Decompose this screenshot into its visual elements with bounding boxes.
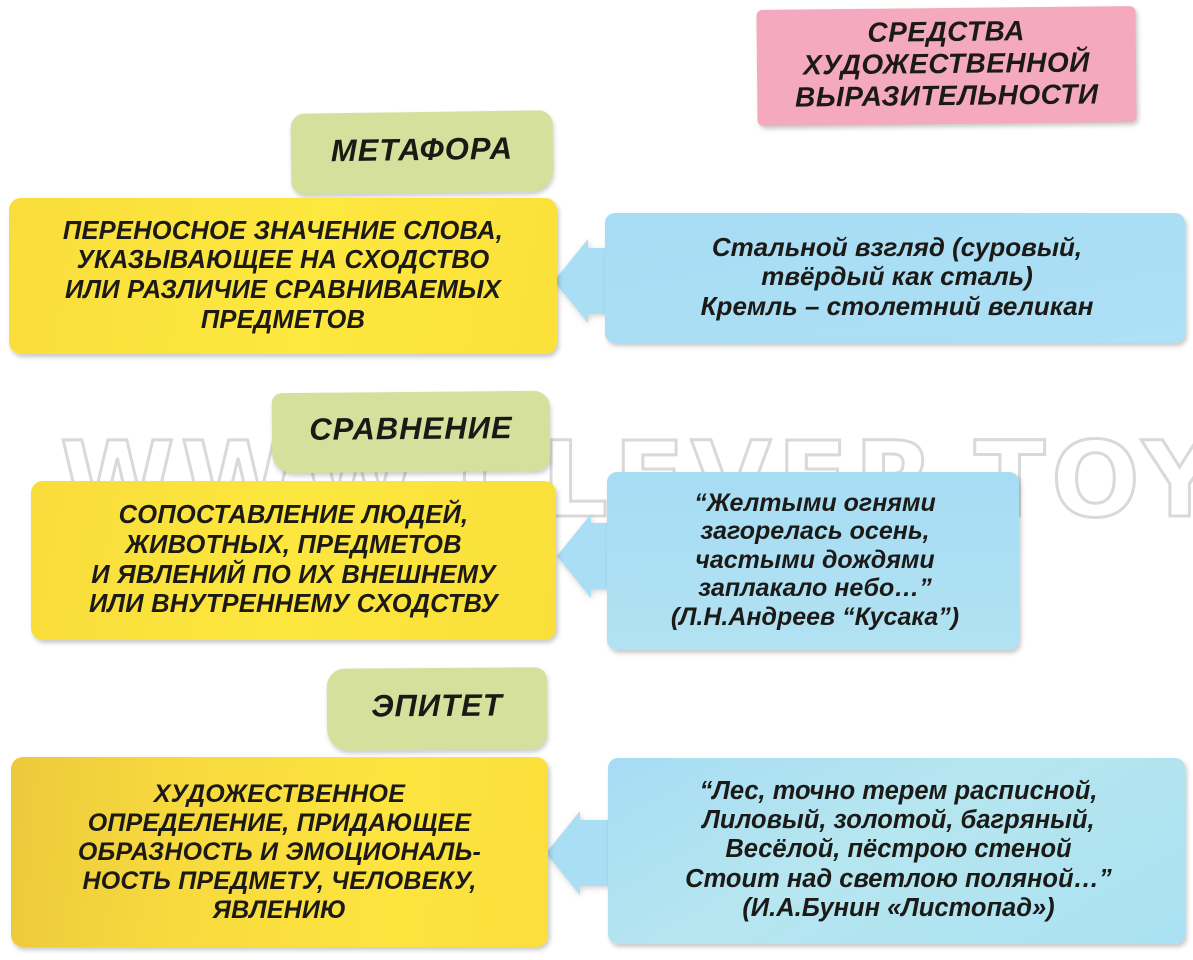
definition-line-5: ЯВЛЕНИЮ [78,896,481,925]
example-line-2: Лиловый, золотой, багряный, [685,806,1112,835]
definition-line-4: ПРЕДМЕТОВ [63,306,503,336]
example-line-1: “Лес, точно терем расписной, [685,777,1112,806]
definition-card-comparison: СОПОСТАВЛЕНИЕ ЛЮДЕЙ, ЖИВОТНЫХ, ПРЕДМЕТОВ… [31,481,556,640]
definition-line-1: ХУДОЖЕСТВЕННОЕ [78,780,481,809]
example-card-comparison: “Желтыми огнями загорелась осень, частым… [607,472,1019,650]
definition-line-2: ОПРЕДЕЛЕНИЕ, ПРИДАЮЩЕЕ [78,809,481,838]
page-title-line-2: ХУДОЖЕСТВЕННОЙ [795,46,1099,81]
section-banner-epithet: ЭПИТЕТ [327,667,548,751]
page-title-line-3: ВЫРАЗИТЕЛЬНОСТИ [795,78,1099,113]
definition-line-3: ОБРАЗНОСТЬ И ЭМОЦИОНАЛЬ- [78,838,481,867]
section-banner-metaphor: МЕТАФОРА [290,110,553,195]
definition-line-2: ЖИВОТНЫХ, ПРЕДМЕТОВ [89,531,498,561]
example-line-4: Стоит над светлою поляной…” [685,865,1112,894]
definition-line-1: ПЕРЕНОСНОЕ ЗНАЧЕНИЕ СЛОВА, [63,217,503,247]
definition-card-metaphor: ПЕРЕНОСНОЕ ЗНАЧЕНИЕ СЛОВА, УКАЗЫВАЮЩЕЕ Н… [9,198,557,354]
page-title-line-1: СРЕДСТВА [794,15,1098,50]
example-card-metaphor: Стальной взгляд (суровый, твёрдый как ст… [605,213,1185,343]
definition-line-3: И ЯВЛЕНИЙ ПО ИХ ВНЕШНЕМУ [89,561,498,591]
example-card-epithet: “Лес, точно терем расписной, Лиловый, зо… [608,758,1185,944]
arrow-left-icon-epithet [540,810,612,896]
definition-line-4: НОСТЬ ПРЕДМЕТУ, ЧЕЛОВЕКУ, [78,867,481,896]
example-line-1: “Желтыми огнями [671,489,959,518]
definition-line-1: СОПОСТАВЛЕНИЕ ЛЮДЕЙ, [89,501,498,531]
page-title-card: СРЕДСТВА ХУДОЖЕСТВЕННОЙ ВЫРАЗИТЕЛЬНОСТИ [756,6,1136,126]
example-line-2: загорелась осень, [671,517,959,546]
definition-line-3: ИЛИ РАЗЛИЧИЕ СРАВНИВАЕМЫХ [63,276,503,306]
definition-line-2: УКАЗЫВАЮЩЕЕ НА СХОДСТВО [63,246,503,276]
banner-label: МЕТАФОРА [331,130,514,169]
example-line-1: Стальной взгляд (суровый, [701,233,1094,263]
banner-label: ЭПИТЕТ [371,688,503,725]
example-line-3: Весёлой, пёстрою стеной [685,835,1112,864]
diagram-canvas: WWW.CLEVER-TOY.RU СРЕДСТВА ХУДОЖЕСТВЕННО… [0,0,1193,960]
example-line-3: Кремль – столетний великан [701,292,1094,322]
section-banner-comparison: СРАВНЕНИЕ [272,391,551,473]
example-line-5: (Л.Н.Андреев “Кусака”) [671,603,959,632]
definition-line-4: ИЛИ ВНУТРЕННЕМУ СХОДСТВУ [89,590,498,620]
example-line-3: частыми дождями [671,546,959,575]
definition-card-epithet: ХУДОЖЕСТВЕННОЕ ОПРЕДЕЛЕНИЕ, ПРИДАЮЩЕЕ ОБ… [11,757,548,947]
example-line-4: заплакало небо…” [671,574,959,603]
banner-label: СРАВНЕНИЕ [309,410,513,448]
example-line-2: твёрдый как сталь) [701,262,1094,292]
example-line-5: (И.А.Бунин «Листопад») [685,894,1112,923]
